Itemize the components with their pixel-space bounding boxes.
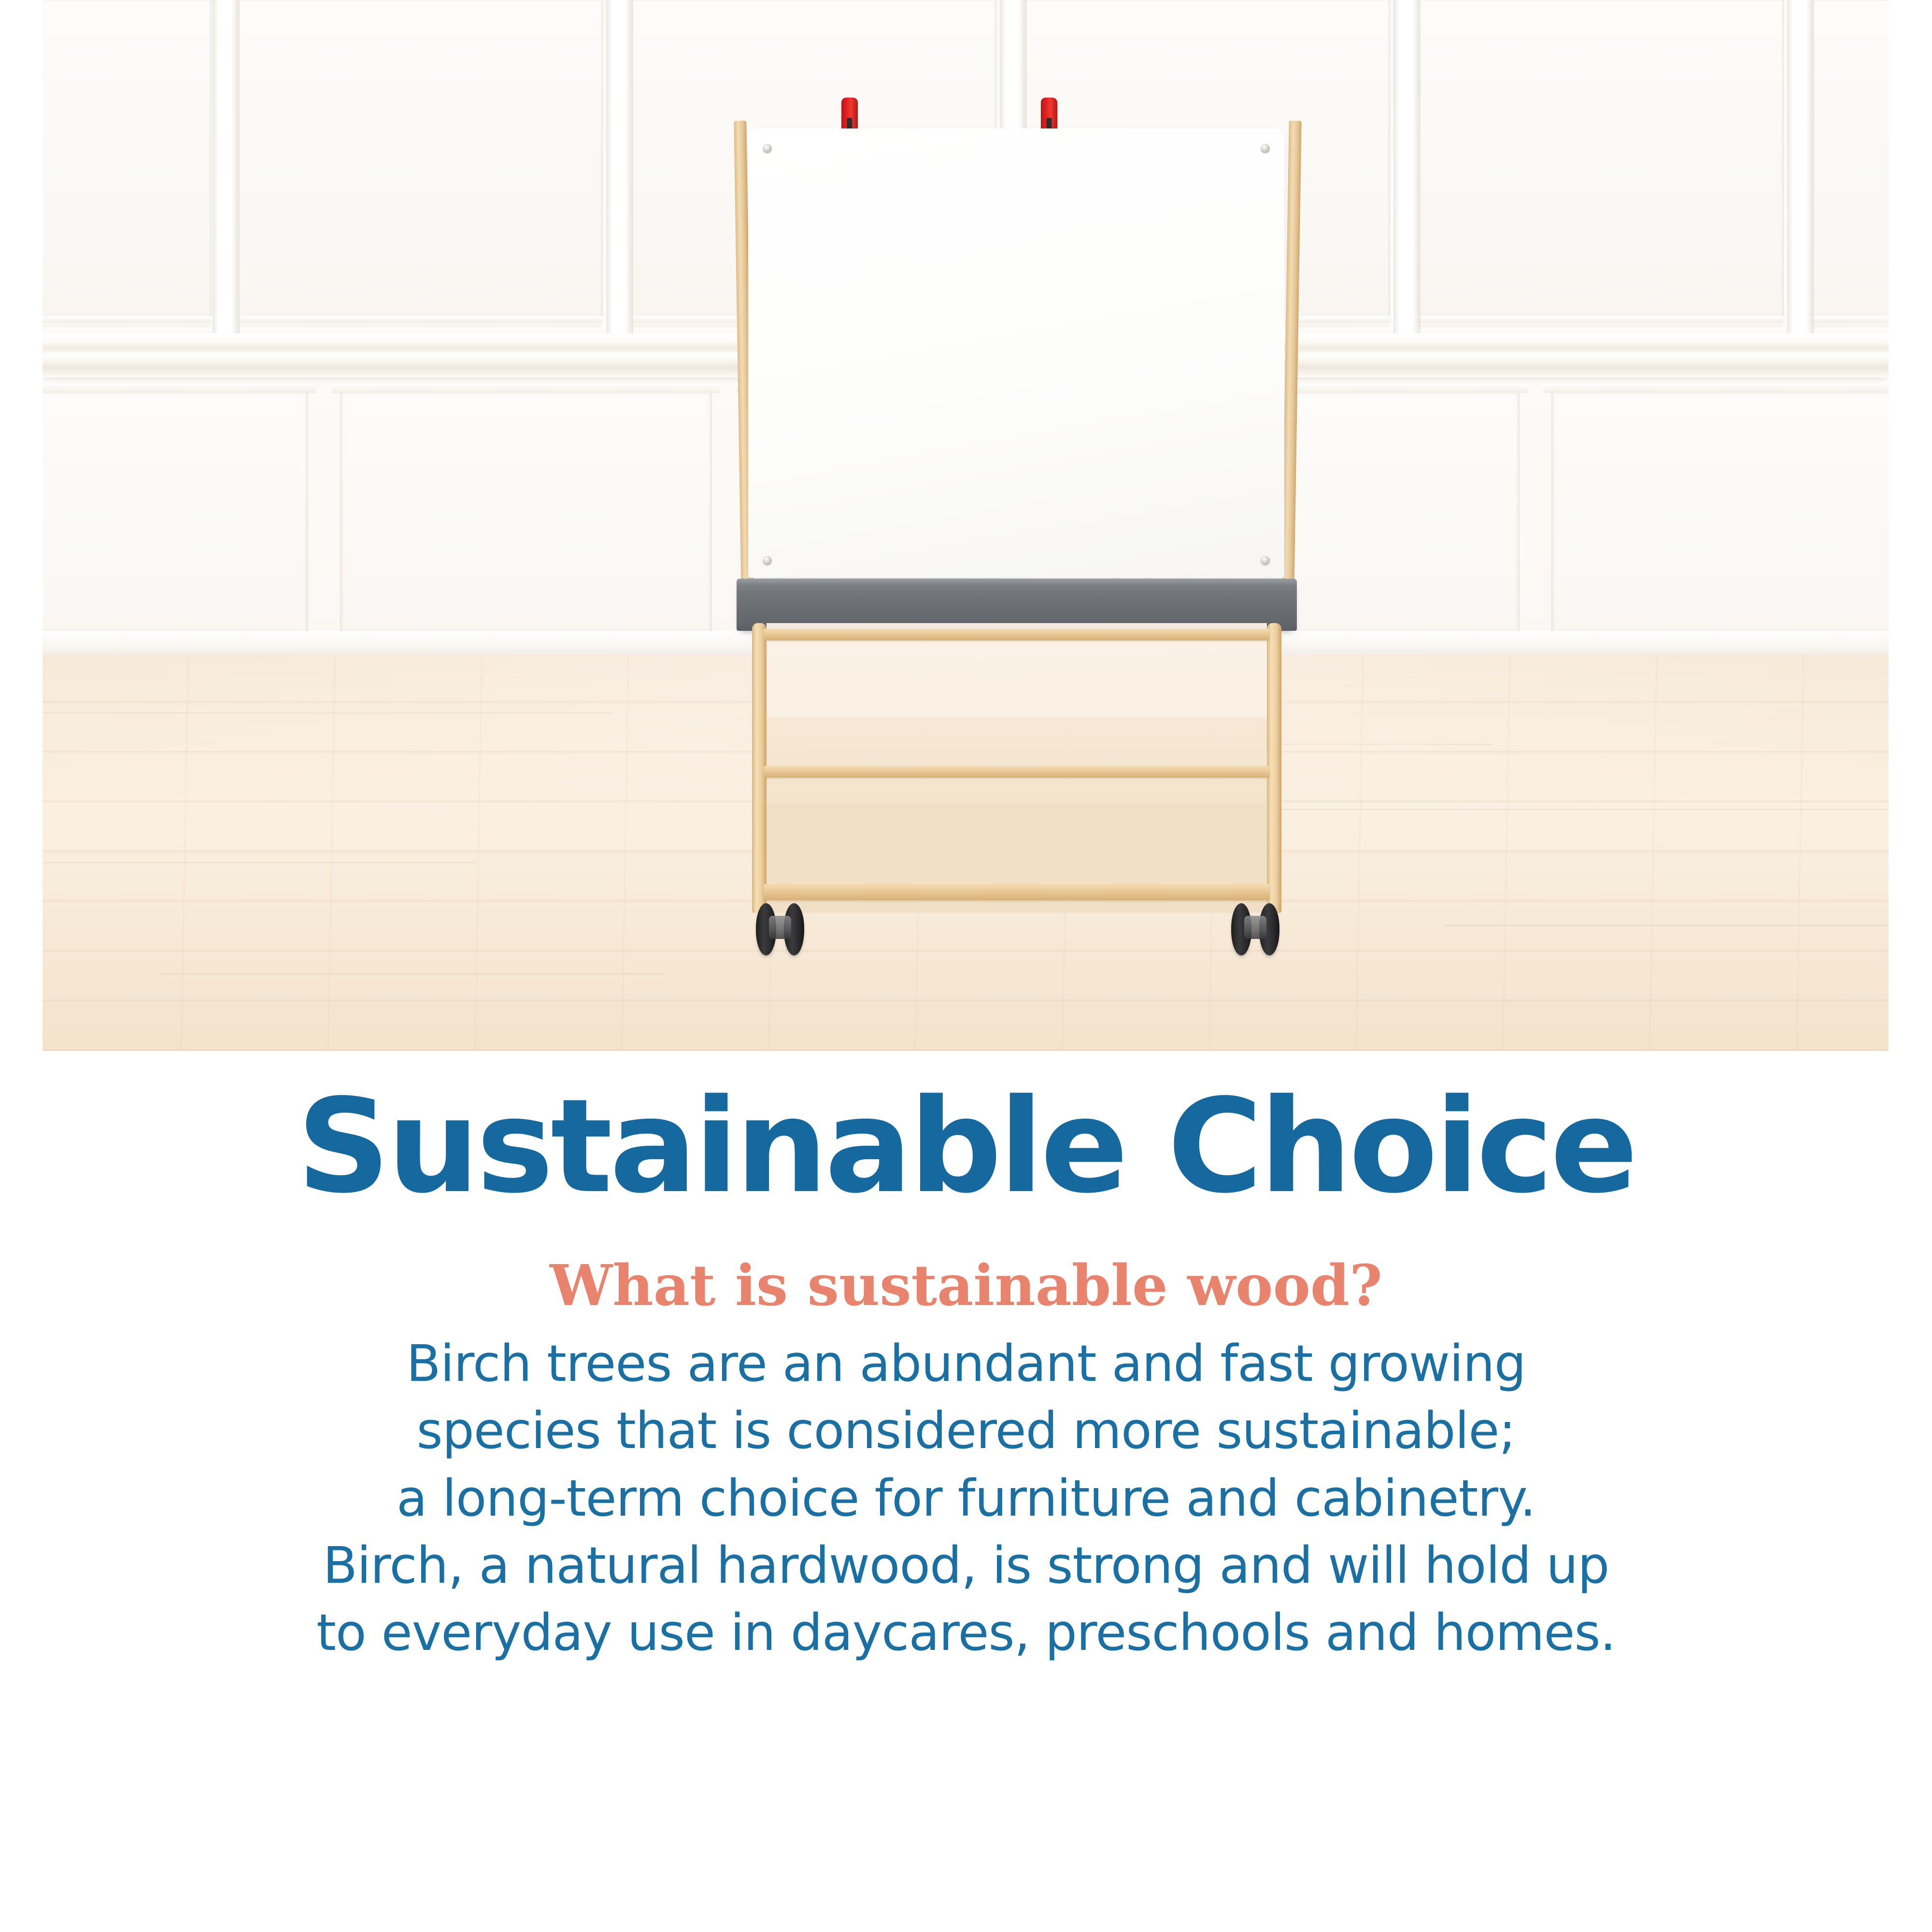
floor-plank-seam <box>158 973 666 974</box>
product-photo <box>43 0 1889 1051</box>
wall-lower-panel-5 <box>1551 391 1889 633</box>
body-line: to everyday use in daycares, preschools … <box>0 1599 1932 1666</box>
screw-icon <box>763 144 772 153</box>
wall-stile-5 <box>1787 0 1814 367</box>
wall-stile-1 <box>213 0 240 367</box>
page-title: Sustainable Choice <box>0 1082 1932 1211</box>
text-block: Sustainable Choice What is sustainable w… <box>0 1082 1932 1667</box>
wall-upper-panel-6 <box>1810 0 1889 319</box>
body-paragraph: Birch trees are an abundant and fast gro… <box>0 1314 1932 1667</box>
wall-lower-panel-2 <box>340 391 712 633</box>
easel-cart-body <box>752 623 1281 913</box>
body-line: a long-term choice for furniture and cab… <box>0 1465 1932 1532</box>
top-shelf <box>764 629 1270 640</box>
floor-plank-seam <box>1250 809 1889 810</box>
screw-icon <box>1261 556 1270 565</box>
wall-upper-panel-5 <box>1417 0 1784 319</box>
screw-icon <box>763 556 772 565</box>
caster-left <box>756 903 804 955</box>
wall-stile-2 <box>606 0 633 367</box>
wall-stile-4 <box>1393 0 1421 367</box>
wall-lower-panel-1 <box>43 391 308 633</box>
middle-shelf <box>764 766 1270 778</box>
body-line: species that is considered more sustaina… <box>0 1397 1932 1464</box>
caster-right <box>1231 903 1279 955</box>
wall-upper-panel-2 <box>236 0 603 319</box>
screw-icon <box>1261 144 1270 153</box>
mobile-art-easel <box>733 121 1303 942</box>
bottom-shelf <box>764 884 1270 900</box>
floor-plank-seam <box>1443 925 1889 926</box>
easel-frame-right-post <box>1281 121 1301 594</box>
body-line: Birch trees are an abundant and fast gro… <box>0 1330 1932 1397</box>
body-line: Birch, a natural hardwood, is strong and… <box>0 1532 1932 1599</box>
whiteboard-panel <box>748 128 1284 578</box>
caster-hub <box>1244 916 1266 939</box>
section-subtitle: What is sustainable wood? <box>0 1211 1932 1314</box>
page-root: Sustainable Choice What is sustainable w… <box>0 0 1932 1932</box>
floor-plank-seam <box>43 862 477 863</box>
caster-hub <box>769 916 791 939</box>
floor-plank-seam <box>43 712 612 713</box>
wall-upper-panel-1 <box>43 0 212 319</box>
